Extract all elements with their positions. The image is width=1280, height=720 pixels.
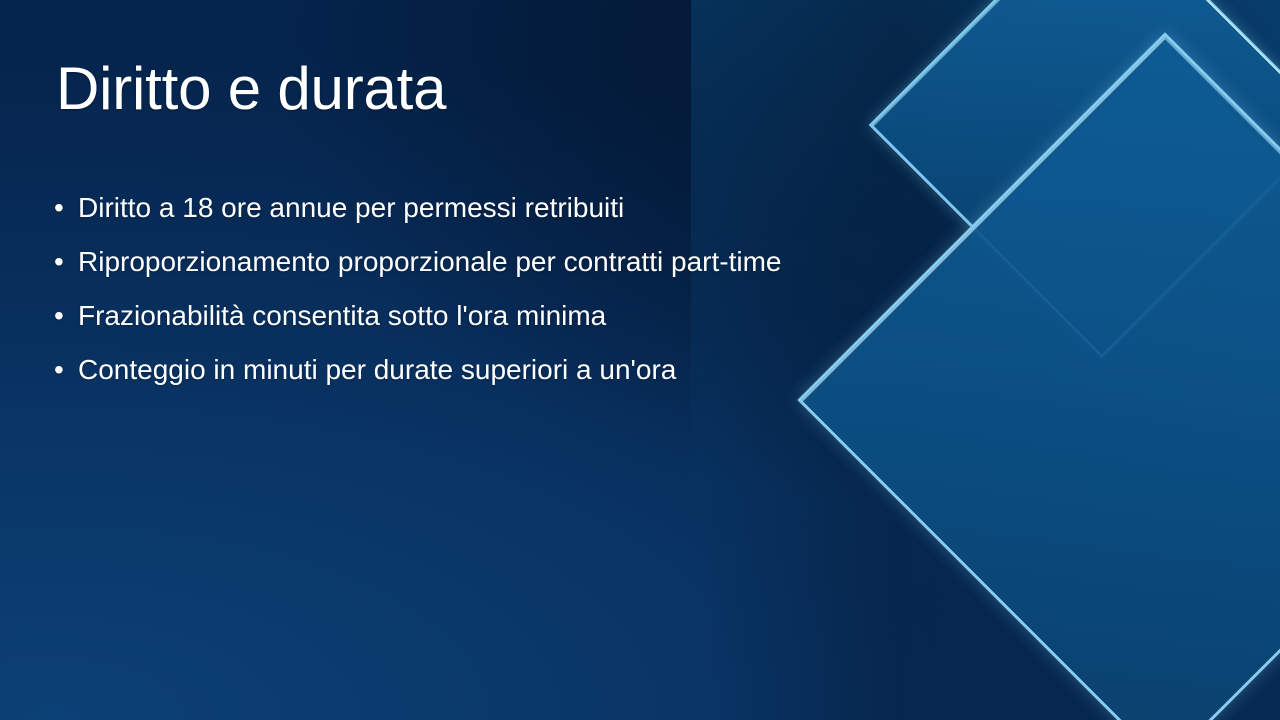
slide-content: Diritto e durata • Diritto a 18 ore annu… (0, 0, 1280, 720)
bullet-point-icon: • (54, 298, 78, 334)
list-item-label: Frazionabilità consentita sotto l'ora mi… (78, 298, 606, 334)
bullet-point-icon: • (54, 190, 78, 226)
list-item-label: Conteggio in minuti per durate superiori… (78, 352, 676, 388)
bullet-list: • Diritto a 18 ore annue per permessi re… (54, 190, 954, 406)
bullet-point-icon: • (54, 244, 78, 280)
list-item-label: Riproporzionamento proporzionale per con… (78, 244, 781, 280)
list-item: • Diritto a 18 ore annue per permessi re… (54, 190, 954, 244)
list-item: • Riproporzionamento proporzionale per c… (54, 244, 954, 298)
list-item: • Conteggio in minuti per durate superio… (54, 352, 954, 406)
bullet-point-icon: • (54, 352, 78, 388)
list-item-label: Diritto a 18 ore annue per permessi retr… (78, 190, 624, 226)
presentation-slide: Diritto e durata • Diritto a 18 ore annu… (0, 0, 1280, 720)
list-item: • Frazionabilità consentita sotto l'ora … (54, 298, 954, 352)
page-title: Diritto e durata (56, 57, 446, 120)
